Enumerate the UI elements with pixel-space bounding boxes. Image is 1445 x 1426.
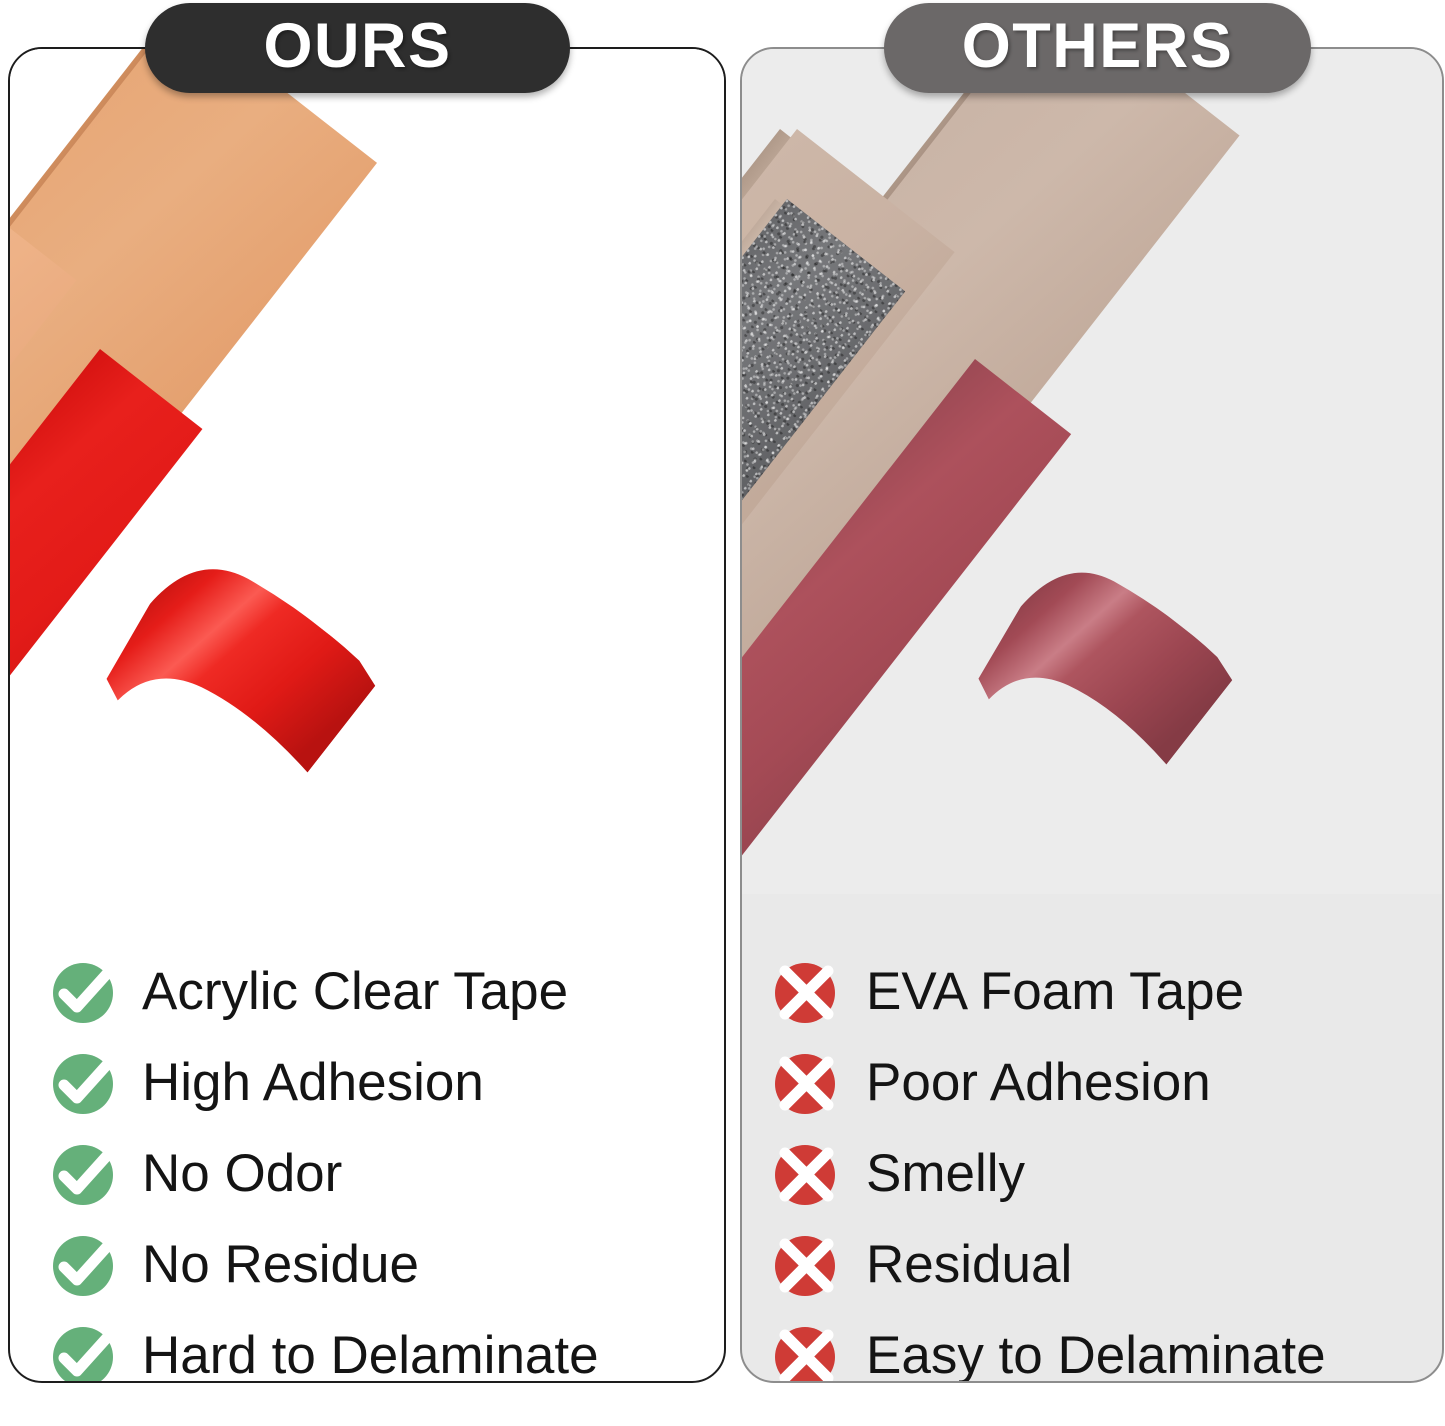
list-item-label: No Odor xyxy=(142,1147,342,1200)
ours-feature-list: Acrylic Clear Tape High Adhesion xyxy=(10,894,724,1383)
others-red-liner-flap xyxy=(961,541,1239,813)
ours-badge: OURS xyxy=(145,3,570,93)
cross-circle-icon xyxy=(772,1050,838,1116)
cross-circle-icon xyxy=(772,1141,838,1207)
cross-circle-icon xyxy=(772,1232,838,1298)
ours-red-liner-flap xyxy=(88,536,382,823)
check-circle-icon xyxy=(50,959,116,1025)
others-feature-list: EVA Foam Tape Poor Adhesion xyxy=(742,894,1442,1383)
ours-card: Acrylic Clear Tape High Adhesion xyxy=(8,47,726,1383)
check-circle-icon xyxy=(50,1050,116,1116)
others-card: EVA Foam Tape Poor Adhesion xyxy=(740,47,1444,1383)
list-item-label: Poor Adhesion xyxy=(866,1056,1211,1109)
list-item: Acrylic Clear Tape xyxy=(10,946,724,1037)
list-item: High Adhesion xyxy=(10,1037,724,1128)
list-item: Smelly xyxy=(742,1128,1442,1219)
list-item: Poor Adhesion xyxy=(742,1037,1442,1128)
list-item: Easy to Delaminate xyxy=(742,1310,1442,1383)
list-item-label: Residual xyxy=(866,1238,1072,1291)
cross-circle-icon xyxy=(772,959,838,1025)
list-item: Hard to Delaminate xyxy=(10,1310,724,1383)
ours-product-photo xyxy=(10,49,724,894)
list-item: No Odor xyxy=(10,1128,724,1219)
list-item-label: Hard to Delaminate xyxy=(142,1329,599,1382)
list-item-label: Easy to Delaminate xyxy=(866,1329,1326,1382)
list-item: EVA Foam Tape xyxy=(742,946,1442,1037)
list-item-label: Acrylic Clear Tape xyxy=(142,965,568,1018)
list-item-label: EVA Foam Tape xyxy=(866,965,1244,1018)
list-item-label: Smelly xyxy=(866,1147,1025,1200)
list-item: Residual xyxy=(742,1219,1442,1310)
others-badge: OTHERS xyxy=(884,3,1311,93)
cross-circle-icon xyxy=(772,1323,838,1384)
ours-badge-label: OURS xyxy=(263,15,451,78)
list-item-label: No Residue xyxy=(142,1238,419,1291)
check-circle-icon xyxy=(50,1141,116,1207)
list-item-label: High Adhesion xyxy=(142,1056,484,1109)
check-circle-icon xyxy=(50,1323,116,1384)
list-item: No Residue xyxy=(10,1219,724,1310)
others-badge-label: OTHERS xyxy=(962,15,1234,78)
others-product-photo xyxy=(742,49,1442,894)
comparison-infographic: Acrylic Clear Tape High Adhesion xyxy=(0,0,1445,1426)
check-circle-icon xyxy=(50,1232,116,1298)
